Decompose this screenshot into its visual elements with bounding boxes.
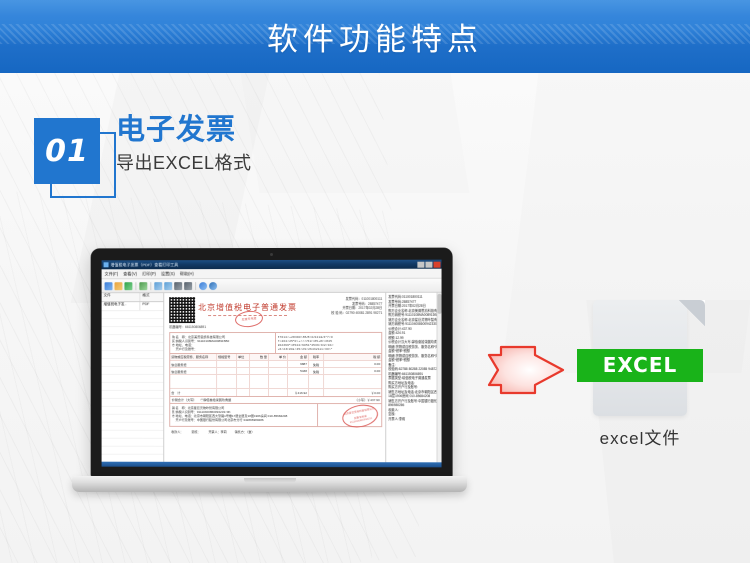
detail-line: 校验码:82788 80288 22085 94872 [388,367,441,372]
table-total-row: 合 计 ￥416.92 ￥0.00 [170,389,381,395]
detail-line: 明细:货物或应税劳务、服务名称*规格型号*单位*数量*单价*金额*税率*税额 [388,353,441,362]
laptop-screen: 增值税电子发票（PDF）查看打印工具 文件(F) 查看(V) 打印(P) 设置(… [102,260,442,468]
cell-blank [170,375,217,388]
laptop-shadow [82,492,457,498]
detail-line: 销售方地址及电话:北京市朝阳区西大望路1号楼17层全层及18层1906房间 01… [388,390,441,399]
seller-bank: 开户行及账号：中国银行股份有限公司北京市分行 342896980286 [172,418,316,422]
seller-info: 销 名 称：北京星巨灵物咔智有限公司 售 纳税人识别号：911104008600… [170,404,318,426]
col-goods-name: 货物或应税劳务、服务名称 [170,354,217,360]
invoice-document: 北京增值税电子普通发票 发票专用章 发票代码：011001800111 发票号码… [164,293,385,462]
file-list-pane: 文件 格式 增值税电子发.. PDF [102,293,165,462]
summary-cn-amount: ㊀肆佰叁拾柒圆玖角整 [200,397,350,402]
app-statusbar [102,462,442,468]
cell-blank [217,389,237,395]
zoom-out-icon[interactable] [164,282,172,290]
invoice-summary-row: 价税合计（大写） ㊀肆佰叁拾柒圆玖角整 （小写）￥437.90 [169,396,382,404]
info-icon[interactable] [209,282,217,290]
footer-seller: 销售方：（章） [235,429,255,434]
menu-item-view[interactable]: 查看(V) [123,271,137,277]
document-pane: 北京增值税电子普通发票 发票专用章 发票代码：011001800111 发票号码… [164,293,441,463]
cipher-block: 87614<+28390>85/8>0/221&/4*7<0 7>404<25*… [276,333,381,353]
cell-qty [250,368,269,374]
toolbar-separator [135,282,136,290]
invoice-buyer-cipher-box: 购 名 称：北京美普思凯科技有限公司 买 纳税人识别号：91110108MA00… [169,332,382,354]
col-taxrate: 税率 [309,354,324,360]
excel-badge: EXCEL [577,349,703,382]
detail-line: 明细:货物或应税劳务、服务名称*规格型号*单位*数量*单价*金额*税率*税额 [388,344,441,353]
col-spec: 规格型号 [217,354,237,360]
menu-item-help[interactable]: 帮助(H) [180,271,194,277]
cell-tax: 0.00 [324,368,381,374]
cell-blank [237,375,250,388]
cell-blank [309,389,324,395]
menu-item-print[interactable]: 打印(P) [142,271,156,277]
total-tax: ￥0.00 [324,389,381,395]
file-list-row[interactable]: 增值税电子发.. PDF [102,302,164,311]
app-icon [104,262,109,267]
cell-blank [250,389,269,395]
remark-area: 北京星巨灵物咔智有限公司 发票专用章 91110400860094233 [318,404,381,426]
excel-label: excel文件 [565,424,715,449]
cell-blank [250,375,269,388]
app-menubar: 文件(F) 查看(V) 打印(P) 设置(S) 帮助(H) [102,269,442,280]
print-icon[interactable] [139,282,147,290]
file-format-cell: PDF [140,302,163,310]
column-header-file: 文件 [102,293,141,301]
cell-qty [250,361,269,367]
feature-text-group: 电子发票 导出EXCEL格式 [116,112,252,176]
footer-drawer: 开票人：李莉 [208,429,226,434]
detail-line: 价税合计汉大写:肆佰叁拾柒圆玖角整 [388,340,441,345]
app-title: 增值税电子发票（PDF）查看打印工具 [111,262,179,268]
col-unit: 单位 [237,354,250,360]
invoice-header-meta: 发票代码：011001800111 发票号码：28857477 开票日期：201… [300,297,382,315]
cell-blank [324,375,381,388]
cell-spec [217,368,237,374]
cell-amount: 5438 [288,368,309,374]
excel-file-icon: EXCEL excel文件 [593,300,705,428]
col-tax: 税 额 [324,354,381,360]
page-root: 软件功能特点 01 电子发票 导出EXCEL格式 增值税电子发票（PDF）查看打… [0,0,750,563]
cell-blank [217,375,237,388]
total-label: 合 计 [170,389,217,395]
right-arrow-icon [487,343,565,397]
excel-badge-text: EXCEL [577,349,703,382]
summary-label: 价税合计（大写） [172,397,197,402]
toolbar-separator [150,282,151,290]
invoice-checkcode: 校 验 码：02790 40081 2891 90271 [300,311,382,316]
laptop-mockup: 增值税电子发票（PDF）查看打印工具 文件(F) 查看(V) 打印(P) 设置(… [72,248,467,506]
maximize-button[interactable] [425,261,432,267]
invoice-footer: 收款人： 复核： 开票人：李莉 销售方：（章） [169,427,382,434]
qr-code-icon [169,297,195,323]
cell-tax: 0.00 [324,361,381,367]
feature-number: 01 [45,134,89,169]
file-name-cell: 增值税电子发.. [102,302,141,310]
cell-amount: 9887 [288,361,309,367]
cell-price [269,368,288,374]
banner-title: 软件功能特点 [0,0,750,73]
folder-icon[interactable] [115,282,123,290]
buyer-bank: 开户行及账号： [172,347,274,351]
page-fold-shade [679,300,705,326]
total-amount: ￥416.92 [288,389,309,395]
app-titlebar: 增值税电子发票（PDF）查看打印工具 [102,260,442,270]
detail-line: 开票人:李莉 [388,417,441,422]
cell-unit [237,361,250,367]
invoice-header: 北京增值税电子普通发票 发票专用章 发票代码：011001800111 发票号码… [169,297,382,323]
machine-code: 机器编号：661150806891 [169,324,382,329]
invoice-seller-block: 销 名 称：北京星巨灵物咔智有限公司 售 纳税人识别号：911104008600… [169,404,382,427]
open-icon[interactable] [105,282,113,290]
table-blank-row [170,375,381,389]
footer-reviewer: 复核： [191,429,200,434]
cell-blank [269,389,288,395]
table-row: 信息服务费 9887 免税 0.00 [170,361,381,368]
app-toolbar [102,279,442,294]
app-workarea: 文件 格式 增值税电子发.. PDF [102,293,442,463]
cell-blank [288,375,309,388]
webcam-icon [270,253,273,256]
prev-page-icon[interactable] [174,282,182,290]
summary-amount: （小写）￥437.90 [355,397,380,402]
oval-stamp-icon: 北京星巨灵物咔智有限公司 发票专用章 91110400860094233 [340,402,380,430]
refresh-icon[interactable] [199,282,207,290]
footer-payee: 收款人： [171,429,183,434]
buyer-block: 购 名 称：北京美普思凯科技有限公司 买 纳税人识别号：91110108MA00… [170,333,276,353]
col-price: 单 价 [269,354,288,360]
minimize-button[interactable] [417,261,424,267]
laptop-base-notch [244,478,296,483]
invoice-items-table: 货物或应税劳务、服务名称 规格型号 单位 数 量 单 价 金 额 税率 税 额 [169,354,382,397]
file-list-header: 文件 格式 [102,293,164,302]
table-row: 信息服务费 5438 免税 0.00 [170,368,381,375]
close-button[interactable] [433,261,440,267]
vertical-scrollbar[interactable] [437,293,442,463]
cell-taxrate: 免税 [309,368,324,374]
detail-line: 购方纳税号:91110108MA008915B0 [388,313,441,318]
feature-number-badge: 01 [34,118,100,184]
cipher-line: +6<23/16&<45<29<26432111<30>* [277,347,379,351]
column-header-format: 格式 [140,293,163,301]
zoom-in-icon[interactable] [154,282,162,290]
cell-goods-name: 信息服务费 [170,368,217,374]
cell-spec [217,361,237,367]
scrollbar-thumb[interactable] [438,294,442,314]
toolbar-separator [195,282,196,290]
laptop-lid: 增值税电子发票（PDF）查看打印工具 文件(F) 查看(V) 打印(P) 设置(… [91,248,453,479]
file-list-empty-area [102,311,164,462]
col-amount: 金 额 [288,354,309,360]
cell-blank [309,375,324,388]
menu-item-file[interactable]: 文件(F) [105,271,119,277]
menu-item-setting[interactable]: 设置(S) [161,271,175,277]
cell-unit [237,368,250,374]
invoice-title-area: 北京增值税电子普通发票 发票专用章 [198,297,297,316]
cell-blank [237,389,250,395]
cell-price [269,361,288,367]
detail-line: 销售方开户行及账号:中国银行股份有限公司北京市分行 342896980286 [388,399,441,408]
feature-title: 电子发票 [116,112,252,148]
detail-line: 销方纳税号:911104008600942330K [388,322,441,327]
next-page-icon[interactable] [184,282,192,290]
cell-blank [269,375,288,388]
col-qty: 数 量 [250,354,269,360]
feature-heading: 01 电子发票 导出EXCEL格式 [28,112,368,192]
feature-subtitle: 导出EXCEL格式 [116,150,252,176]
table-header-row: 货物或应税劳务、服务名称 规格型号 单位 数 量 单 价 金 额 税率 税 额 [170,354,381,361]
invoice-detail-panel: 发票代码:011001800111 发票号码:28857477 开票日期:201… [385,293,441,463]
save-icon[interactable] [124,282,132,290]
cell-goods-name: 信息服务费 [170,361,217,367]
header-banner: 软件功能特点 [0,0,750,73]
window-controls [417,261,440,267]
invoice-viewer-app: 增值税电子发票（PDF）查看打印工具 文件(F) 查看(V) 打印(P) 设置(… [102,260,442,468]
cell-taxrate: 免税 [309,361,324,367]
